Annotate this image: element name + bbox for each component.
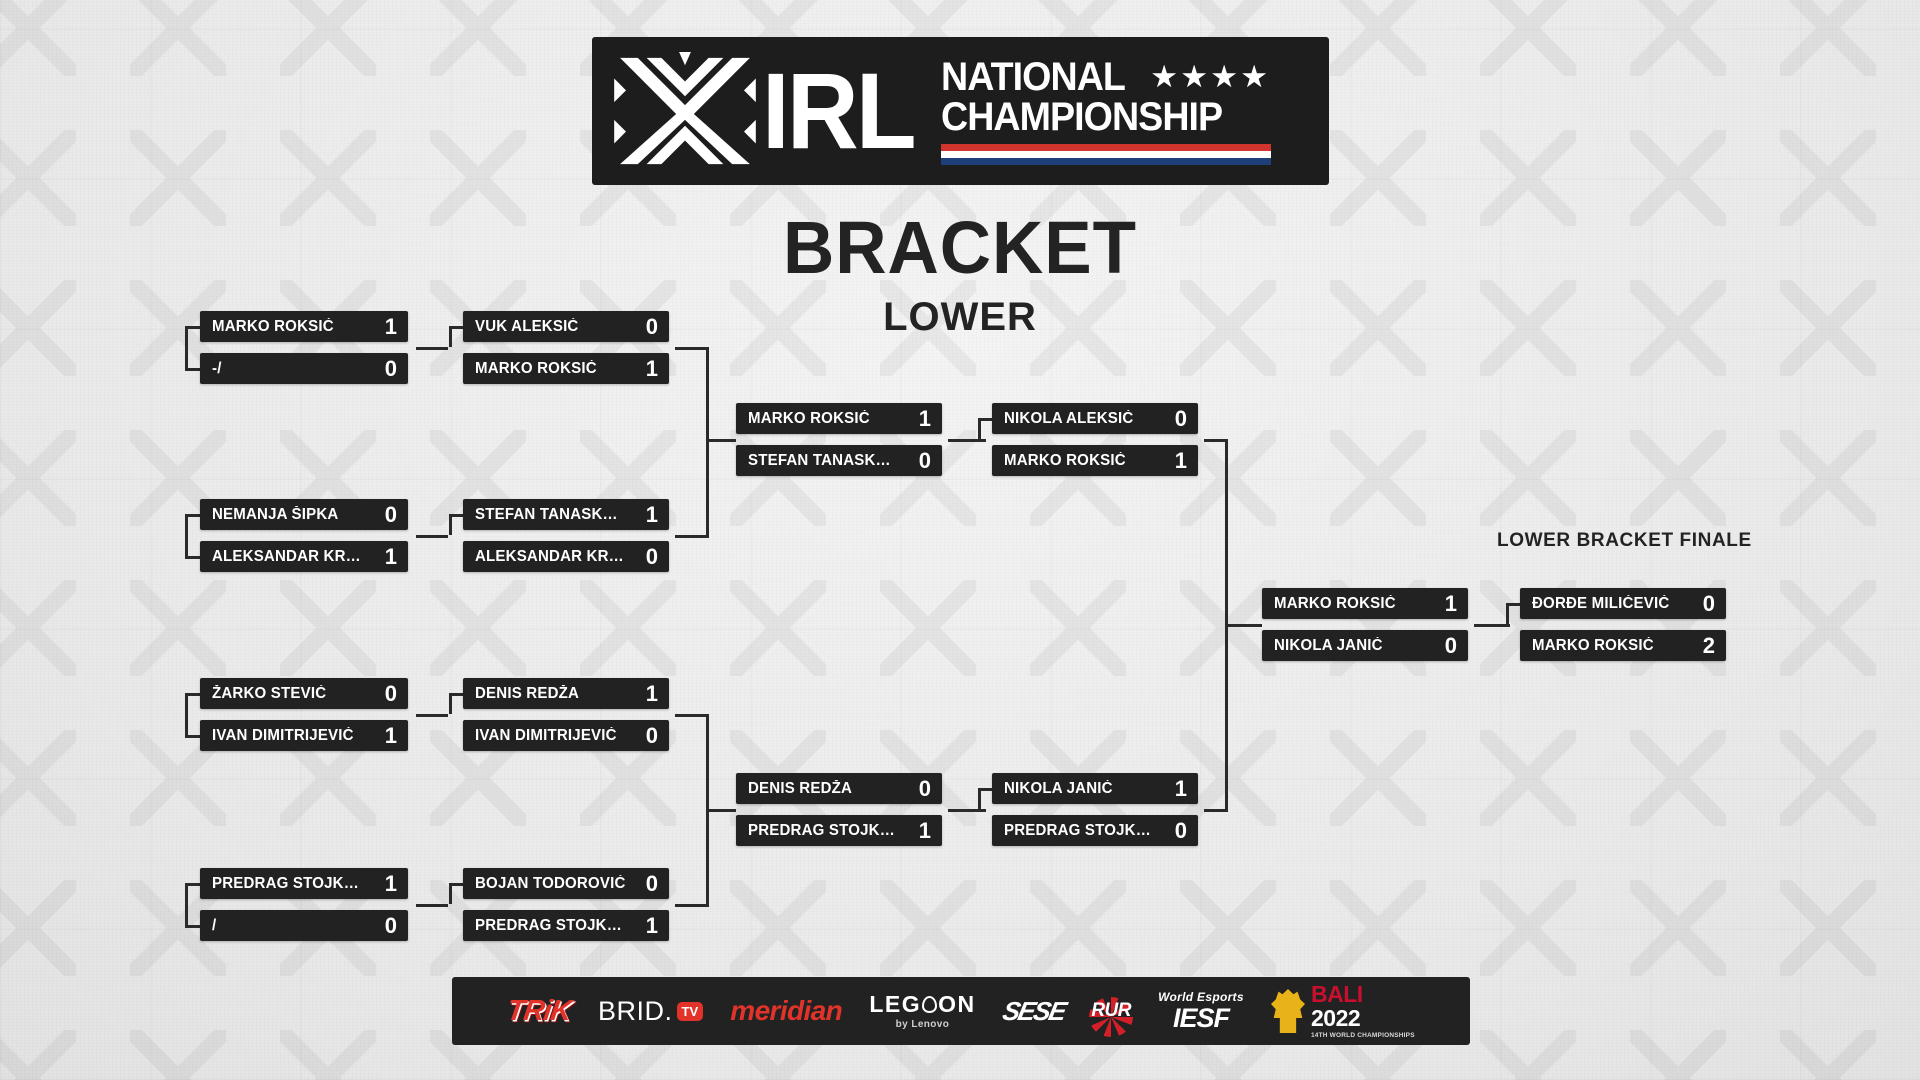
- player-name: IVAN DIMITRIJEVIĆ: [475, 727, 629, 745]
- player-name: MARKO ROKSIĆ: [748, 410, 902, 428]
- match-slot[interactable]: DENIS REDŽA1: [463, 678, 669, 709]
- connector-line-horizontal: [675, 535, 709, 538]
- sponsor-legion-label: LEG: [869, 993, 921, 1016]
- player-score: 1: [1443, 593, 1457, 615]
- player-score: 0: [644, 546, 658, 568]
- match-slot[interactable]: MARKO ROKSIĆ1: [463, 353, 669, 384]
- player-score: 0: [917, 450, 931, 472]
- player-score: 1: [383, 316, 397, 338]
- star-icon: [1152, 65, 1177, 90]
- player-name: ŽARKO STEVIĆ: [212, 685, 368, 703]
- player-name: STEFAN TANASKOVIĆ: [748, 452, 902, 470]
- player-score: 0: [644, 873, 658, 895]
- player-score: 0: [383, 683, 397, 705]
- player-name: DENIS REDŽA: [748, 780, 902, 798]
- player-score: 0: [383, 358, 397, 380]
- player-score: 0: [1173, 820, 1187, 842]
- logo-flag-stripes: [941, 144, 1271, 165]
- star-icon: [1182, 65, 1207, 90]
- sponsor-bali2022[interactable]: BALI 2022 14TH WORLD CHAMPIONSHIPS: [1271, 983, 1415, 1040]
- player-name: ĐORĐE MILIĆEVIĆ: [1532, 595, 1686, 613]
- player-name: DENIS REDŽA: [475, 685, 629, 703]
- connector-line-horizontal: [706, 809, 736, 812]
- match-slot[interactable]: -/0: [200, 353, 408, 384]
- connector-line-horizontal: [675, 347, 709, 350]
- connector-line-horizontal: [1474, 624, 1510, 627]
- logo-championship-text: CHAMPIONSHIP: [941, 97, 1222, 137]
- match-slot[interactable]: DENIS REDŽA0: [736, 773, 942, 804]
- player-name: PREDRAG STOJKOVIĆ: [748, 822, 902, 840]
- connector-line-vertical: [978, 788, 981, 809]
- sponsor-bridtv-label: BRID.: [598, 996, 673, 1027]
- player-name: PREDRAG STOJKOVIĆ: [475, 917, 629, 935]
- player-score: 1: [644, 915, 658, 937]
- match-slot[interactable]: ALEKSANDAR KRSTIĆ1: [200, 541, 408, 572]
- player-name: NIKOLA JANIĆ: [1274, 637, 1428, 655]
- match-slot[interactable]: IVAN DIMITRIJEVIĆ0: [463, 720, 669, 751]
- sponsor-bar: TRiK BRID. TV meridian LEG ON by Lenovo …: [452, 977, 1470, 1045]
- match-slot[interactable]: MARKO ROKSIĆ2: [1520, 630, 1726, 661]
- bali-mascot-icon: [1271, 989, 1305, 1033]
- connector-line-horizontal: [948, 439, 986, 442]
- player-name: PREDRAG STOJKOVIĆ: [212, 875, 368, 893]
- connector-line-vertical: [1506, 603, 1509, 624]
- logo-wordmark: NATIONAL CHAMPIONSHIP: [941, 57, 1271, 165]
- player-score: 1: [1173, 450, 1187, 472]
- connector-line-vertical: [185, 514, 188, 556]
- player-name: PREDRAG STOJKOVIĆ: [1004, 822, 1158, 840]
- player-name: IVAN DIMITRIJEVIĆ: [212, 727, 368, 745]
- sponsor-iesf-sub: World Esports: [1158, 991, 1244, 1003]
- connector-line-vertical: [449, 883, 452, 904]
- player-score: 0: [917, 778, 931, 800]
- connector-line-vertical: [185, 883, 188, 925]
- match-slot[interactable]: IVAN DIMITRIJEVIĆ1: [200, 720, 408, 751]
- sponsor-sese-label: SESE: [999, 996, 1067, 1027]
- match-slot[interactable]: PREDRAG STOJKOVIĆ0: [992, 815, 1198, 846]
- player-score: 0: [644, 316, 658, 338]
- player-name: ALEKSANDAR KRSTIĆ: [475, 548, 629, 566]
- connector-line-horizontal: [185, 556, 200, 559]
- sponsor-meridian[interactable]: meridian: [730, 995, 842, 1027]
- player-name: ALEKSANDAR KRSTIĆ: [212, 548, 368, 566]
- match-slot[interactable]: PREDRAG STOJKOVIĆ1: [463, 910, 669, 941]
- player-name: -/: [212, 360, 368, 378]
- connector-line-horizontal: [185, 925, 200, 928]
- connector-line-vertical: [185, 693, 188, 735]
- connector-line-vertical: [185, 326, 188, 368]
- connector-line-horizontal: [675, 714, 709, 717]
- player-name: MARKO ROKSIĆ: [1274, 595, 1428, 613]
- player-name: MARKO ROKSIĆ: [212, 318, 368, 336]
- match-slot[interactable]: MARKO ROKSIĆ1: [1262, 588, 1468, 619]
- connector-line-vertical: [449, 326, 452, 347]
- player-score: 1: [644, 504, 658, 526]
- player-score: 1: [383, 546, 397, 568]
- player-score: 1: [644, 683, 658, 705]
- match-slot[interactable]: ALEKSANDAR KRSTIĆ0: [463, 541, 669, 572]
- logo-irl-text: IRL: [762, 61, 914, 160]
- bracket-stage: IRL NATIONAL CHAMPIONSHIP BRACKET L: [0, 0, 1920, 1080]
- match-slot[interactable]: BOJAN TODOROVIĆ0: [463, 868, 669, 899]
- sponsor-rur[interactable]: RUR: [1091, 1000, 1131, 1022]
- player-score: 0: [1701, 593, 1715, 615]
- player-score: 2: [1701, 635, 1715, 657]
- sponsor-legion-sub: by Lenovo: [896, 1020, 950, 1030]
- match-slot[interactable]: NIKOLA JANIĆ1: [992, 773, 1198, 804]
- logo-national-text: NATIONAL: [941, 57, 1125, 97]
- player-name: MARKO ROKSIĆ: [1004, 452, 1158, 470]
- sponsor-bali-year: 2022: [1311, 1007, 1415, 1030]
- logo-stars: [1152, 65, 1267, 90]
- match-slot[interactable]: STEFAN TANASKOVIĆ1: [463, 499, 669, 530]
- connector-line-vertical: [978, 418, 981, 439]
- connector-line-horizontal: [675, 904, 709, 907]
- sponsor-legion[interactable]: LEG ON by Lenovo: [869, 993, 975, 1030]
- connector-line-horizontal: [185, 735, 200, 738]
- connector-line-horizontal: [416, 904, 448, 907]
- match-slot[interactable]: NIKOLA JANIĆ0: [1262, 630, 1468, 661]
- player-name: NIKOLA JANIĆ: [1004, 780, 1158, 798]
- legion-shield-icon: [922, 996, 937, 1013]
- match-slot[interactable]: ŽARKO STEVIĆ0: [200, 678, 408, 709]
- sponsor-bridtv[interactable]: BRID. TV: [598, 996, 703, 1027]
- match-slot[interactable]: NEMANJA ŠIPKA0: [200, 499, 408, 530]
- sponsor-rur-label: RUR: [1091, 1000, 1131, 1022]
- connector-line-horizontal: [416, 714, 448, 717]
- sponsor-iesf[interactable]: World Esports IESF: [1158, 991, 1244, 1032]
- match-slot[interactable]: ĐORĐE MILIĆEVIĆ0: [1520, 588, 1726, 619]
- player-score: 1: [1173, 778, 1187, 800]
- connector-line-horizontal: [1204, 809, 1228, 812]
- stripe-red: [941, 144, 1271, 151]
- sponsor-sese[interactable]: SESE: [1003, 996, 1064, 1027]
- stripe-white: [941, 151, 1271, 158]
- page-title: BRACKET: [38, 205, 1881, 290]
- player-score: 1: [917, 408, 931, 430]
- match-slot[interactable]: VUK ALEKSIĆ0: [463, 311, 669, 342]
- star-icon: [1242, 65, 1267, 90]
- player-score: 0: [1173, 408, 1187, 430]
- stripe-blue: [941, 158, 1271, 165]
- player-score: 1: [917, 820, 931, 842]
- connector-line-horizontal: [948, 809, 986, 812]
- match-slot[interactable]: MARKO ROKSIĆ1: [736, 403, 942, 434]
- player-name: NIKOLA ALEKSIĆ: [1004, 410, 1158, 428]
- connector-line-vertical: [449, 514, 452, 535]
- connector-line-horizontal: [416, 347, 448, 350]
- match-slot[interactable]: /0: [200, 910, 408, 941]
- player-name: /: [212, 917, 368, 935]
- match-slot[interactable]: PREDRAG STOJKOVIĆ1: [736, 815, 942, 846]
- sponsor-bali-sub: 14TH WORLD CHAMPIONSHIPS: [1311, 1033, 1415, 1040]
- player-name: BOJAN TODOROVIĆ: [475, 875, 629, 893]
- connector-line-horizontal: [1225, 624, 1262, 627]
- connector-line-horizontal: [416, 535, 448, 538]
- match-slot[interactable]: NIKOLA ALEKSIĆ0: [992, 403, 1198, 434]
- sponsor-bridtv-badge: TV: [677, 1002, 704, 1021]
- player-score: 0: [1443, 635, 1457, 657]
- sponsor-trik-label: TRiK: [505, 995, 573, 1028]
- star-icon: [1212, 65, 1237, 90]
- match-slot[interactable]: PREDRAG STOJKOVIĆ1: [200, 868, 408, 899]
- player-name: VUK ALEKSIĆ: [475, 318, 629, 336]
- match-slot[interactable]: STEFAN TANASKOVIĆ0: [736, 445, 942, 476]
- lower-bracket-finale-label: LOWER BRACKET FINALE: [1497, 530, 1752, 552]
- connector-line-horizontal: [706, 439, 736, 442]
- sponsor-meridian-label: meridian: [730, 995, 842, 1027]
- connector-line-horizontal: [185, 368, 200, 371]
- player-score: 1: [383, 873, 397, 895]
- player-name: MARKO ROKSIĆ: [1532, 637, 1686, 655]
- connector-line-vertical: [449, 693, 452, 714]
- sponsor-iesf-label: IESF: [1173, 1005, 1229, 1032]
- x-emblem-icon: [610, 52, 760, 170]
- sponsor-bali-label: BALI: [1311, 983, 1415, 1006]
- player-score: 1: [383, 725, 397, 747]
- match-slot[interactable]: MARKO ROKSIĆ1: [992, 445, 1198, 476]
- player-score: 0: [383, 915, 397, 937]
- logo-line-national: NATIONAL: [941, 57, 1271, 97]
- player-name: MARKO ROKSIĆ: [475, 360, 629, 378]
- logo-line-championship: CHAMPIONSHIP: [941, 97, 1271, 137]
- sponsor-trik[interactable]: TRiK: [507, 995, 571, 1028]
- sponsor-legion-label2: ON: [938, 993, 976, 1016]
- player-score: 0: [383, 504, 397, 526]
- irl-championship-logo: IRL NATIONAL CHAMPIONSHIP: [592, 37, 1329, 185]
- player-name: STEFAN TANASKOVIĆ: [475, 506, 629, 524]
- player-score: 1: [644, 358, 658, 380]
- player-score: 0: [644, 725, 658, 747]
- player-name: NEMANJA ŠIPKA: [212, 506, 368, 524]
- match-slot[interactable]: MARKO ROKSIĆ1: [200, 311, 408, 342]
